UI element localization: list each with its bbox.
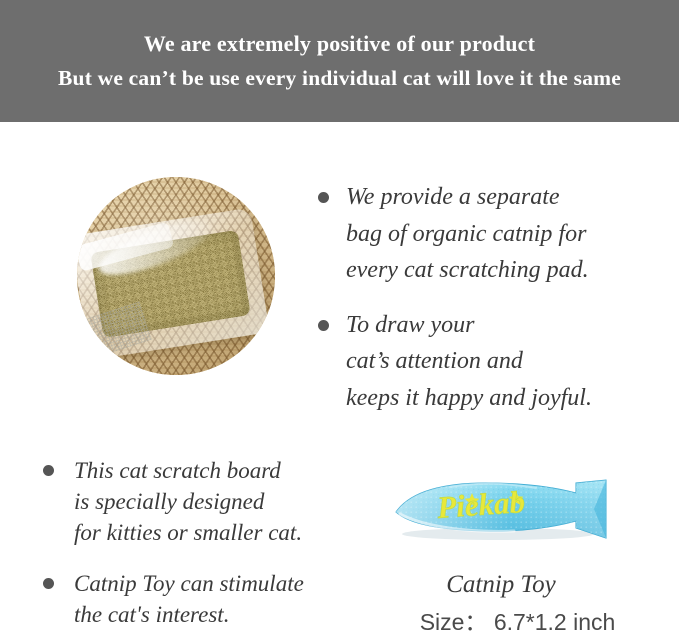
bullet-dot-icon: [318, 192, 329, 203]
feature-list-right: We provide a separate bag of organic cat…: [318, 179, 678, 416]
list-item: This cat scratch board is specially desi…: [43, 455, 373, 548]
catnip-toy-image: Piekab: [390, 476, 612, 544]
list-item: We provide a separate bag of organic cat…: [318, 179, 678, 289]
bag-weave-texture: [81, 301, 152, 358]
feature-list-left: This cat scratch board is specially desi…: [43, 455, 373, 630]
header-banner: We are extremely positive of our product…: [0, 0, 679, 122]
bullet-dot-icon: [318, 320, 329, 331]
toy-size-label: Size： 6.7*1.2 inch: [390, 608, 645, 636]
list-item: Catnip Toy can stimulate the cat's inter…: [43, 568, 373, 630]
header-line-1: We are extremely positive of our product: [144, 27, 535, 61]
list-item: To draw your cat’s attention and keeps i…: [318, 307, 678, 417]
toy-name-label: Catnip Toy: [390, 570, 612, 600]
toy-brand-text: Piekab: [435, 484, 526, 525]
bullet-dot-icon: [43, 578, 54, 589]
list-item-label: This cat scratch board is specially desi…: [74, 455, 302, 548]
list-item-label: To draw your cat’s attention and keeps i…: [346, 307, 592, 417]
list-item-label: Catnip Toy can stimulate the cat's inter…: [74, 568, 304, 630]
catnip-bag-photo: [77, 177, 275, 375]
header-line-2: But we can’t be use every individual cat…: [58, 61, 621, 95]
list-item-label: We provide a separate bag of organic cat…: [346, 179, 589, 289]
bullet-dot-icon: [43, 465, 54, 476]
